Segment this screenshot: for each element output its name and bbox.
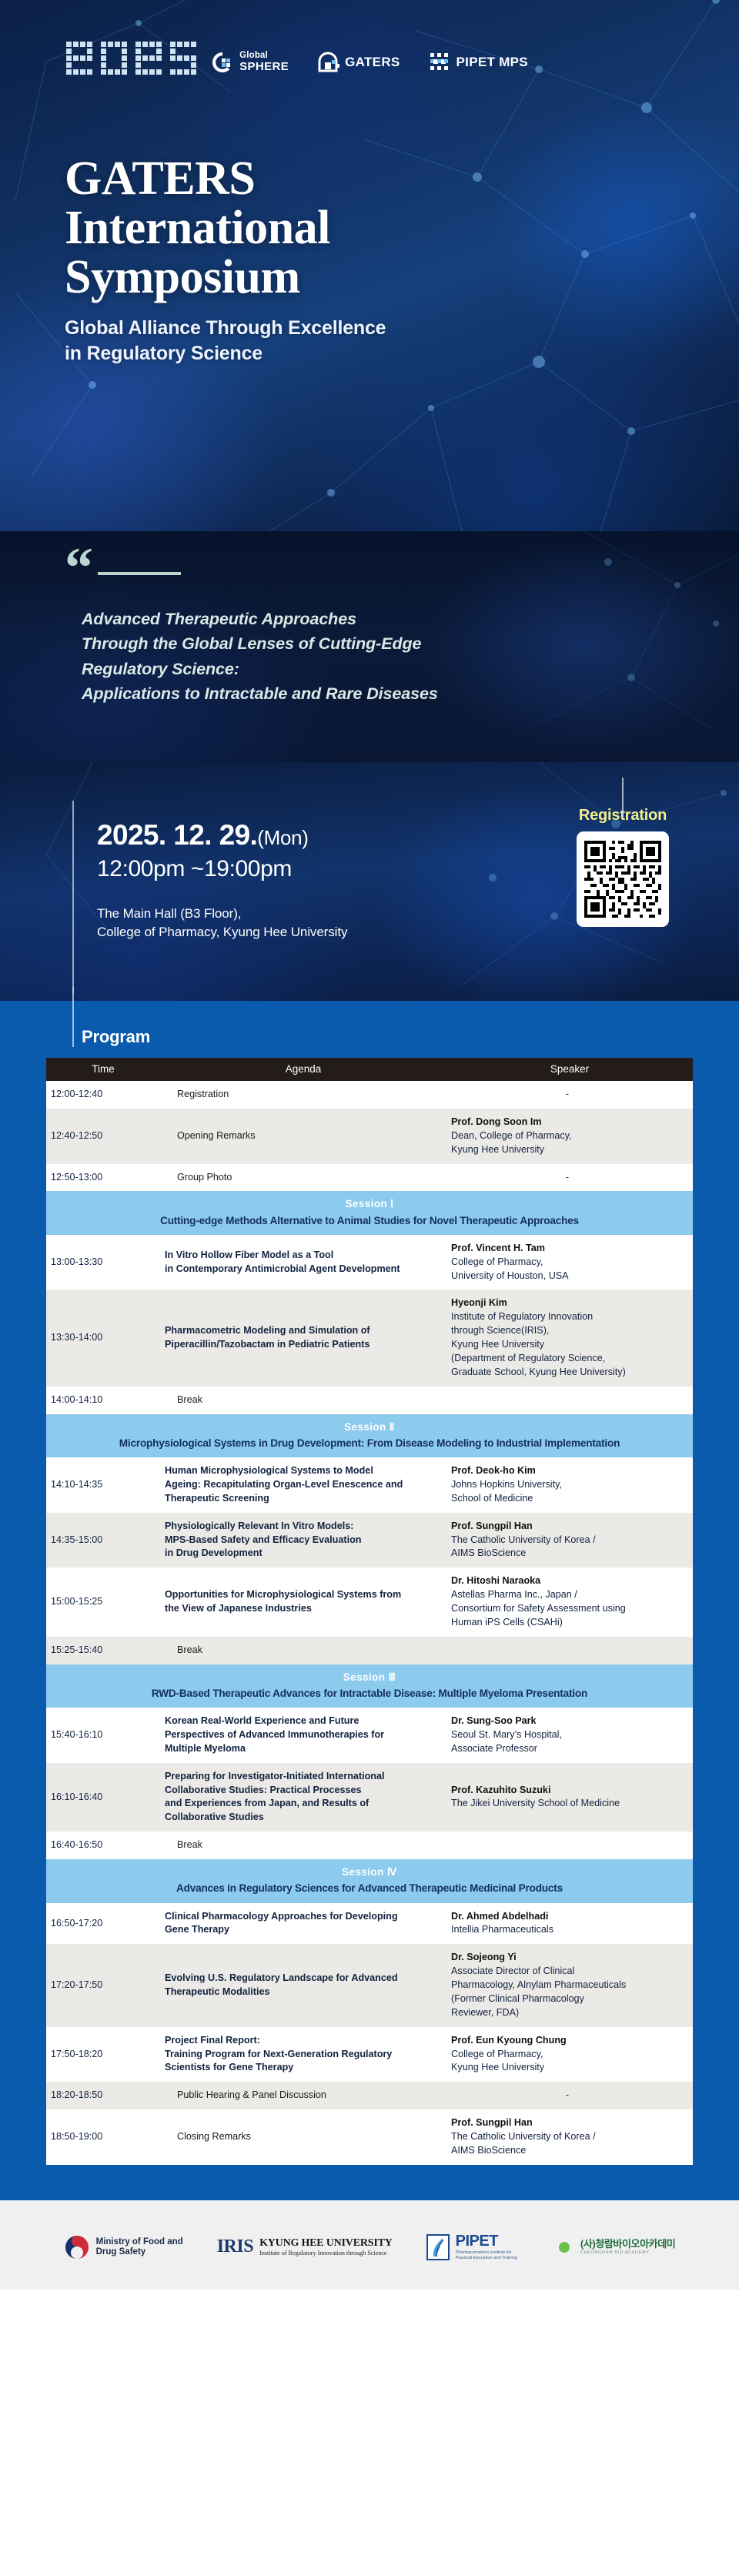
logo-pipet-mps: PIPET MPS bbox=[428, 51, 528, 74]
event-time: 12:00pm ~19:00pm bbox=[97, 856, 347, 883]
khu-line-2: Institute of Regulatory Innovation throu… bbox=[259, 2250, 393, 2257]
registration-accent-line bbox=[622, 778, 624, 818]
date-accent-line bbox=[72, 801, 74, 993]
speaker-affiliation: Seoul St. Mary’s Hospital, bbox=[451, 1728, 688, 1742]
cell-time: 14:10-14:35 bbox=[46, 1457, 160, 1513]
cell-agenda: Registration bbox=[160, 1081, 446, 1109]
page-title: GATERS International Symposium bbox=[65, 154, 330, 302]
speaker-name: Dr. Hitoshi Naraoka bbox=[451, 1574, 688, 1588]
speaker-name: Prof. Vincent H. Tam bbox=[451, 1242, 688, 1256]
table-header-row: Time Agenda Speaker bbox=[46, 1058, 693, 1081]
program-section: Program Time Agenda Speaker 12:00-12:40R… bbox=[0, 1001, 739, 2200]
table-row: 15:40-16:10Korean Real-World Experience … bbox=[46, 1708, 693, 1763]
cell-agenda: Break bbox=[160, 1387, 446, 1414]
table-row: 18:50-19:00Closing RemarksProf. Sungpil … bbox=[46, 2109, 693, 2165]
table-row: 13:30-14:00Pharmacometric Modeling and S… bbox=[46, 1290, 693, 1386]
speaker-affiliation: Johns Hopkins University, bbox=[451, 1478, 688, 1492]
speaker-affiliation: Human iPS Cells (CSAHi) bbox=[451, 1616, 688, 1630]
quote-line-4: Applications to Intractable and Rare Dis… bbox=[82, 681, 438, 706]
subtitle-line-2: in Regulatory Science bbox=[65, 341, 386, 366]
theme-quote-band: “ Advanced Therapeutic Approaches Throug… bbox=[0, 531, 739, 762]
column-header-agenda: Agenda bbox=[160, 1058, 446, 1081]
cell-time: 16:40-16:50 bbox=[46, 1832, 160, 1859]
pipet-line-1: Pharmacometrics Institute for bbox=[456, 2250, 517, 2256]
taegeuk-icon bbox=[64, 2234, 90, 2260]
cell-speaker-empty: - bbox=[446, 1081, 693, 1109]
cell-speaker: Dr. Sung-Soo ParkSeoul St. Mary’s Hospit… bbox=[446, 1708, 693, 1763]
cell-agenda: Korean Real-World Experience and FutureP… bbox=[160, 1708, 446, 1763]
cell-time: 14:00-14:10 bbox=[46, 1387, 160, 1414]
cell-speaker: Dr. Ahmed AbdelhadiIntellia Pharmaceutic… bbox=[446, 1903, 693, 1945]
footer-logo-mfds: Ministry of Food and Drug Safety bbox=[64, 2234, 183, 2260]
program-schedule-table: Time Agenda Speaker 12:00-12:40Registrat… bbox=[46, 1058, 693, 2165]
speaker-affiliation: Graduate School, Kyung Hee University) bbox=[451, 1366, 688, 1380]
title-line-2: International bbox=[65, 203, 330, 253]
cell-agenda: Pharmacometric Modeling and Simulation o… bbox=[160, 1290, 446, 1386]
footer-logo-pipet: PIPET Pharmacometrics Institute for Prac… bbox=[426, 2233, 517, 2261]
speaker-affiliation: Institute of Regulatory Innovation bbox=[451, 1310, 688, 1324]
cell-time: 12:50-13:00 bbox=[46, 1164, 160, 1192]
session-number: Session Ⅱ bbox=[54, 1420, 685, 1434]
cell-agenda: Project Final Report:Training Program fo… bbox=[160, 2027, 446, 2083]
speaker-name: Prof. Dong Soon Im bbox=[451, 1116, 688, 1129]
mfds-line-1: Ministry of Food and bbox=[96, 2237, 183, 2247]
speaker-affiliation: Pharmacology, Alnylam Pharmaceuticals bbox=[451, 1979, 688, 1992]
event-date-row: 2025. 12. 29.(Mon) bbox=[97, 819, 347, 851]
speaker-affiliation: The Catholic University of Korea / bbox=[451, 1534, 688, 1547]
cell-agenda: Preparing for Investigator-Initiated Int… bbox=[160, 1763, 446, 1832]
quote-mark-icon: “ bbox=[65, 551, 93, 587]
cell-time: 16:10-16:40 bbox=[46, 1763, 160, 1832]
speaker-name: Prof. Sungpil Han bbox=[451, 1520, 688, 1534]
speaker-affiliation: Kyung Hee University bbox=[451, 1143, 688, 1157]
table-row: 18:20-18:50Public Hearing & Panel Discus… bbox=[46, 2082, 693, 2109]
column-header-speaker: Speaker bbox=[446, 1058, 693, 1081]
program-table-body: 12:00-12:40Registration-12:40-12:50Openi… bbox=[46, 1081, 693, 2165]
cell-speaker: Prof. Eun Kyoung ChungCollege of Pharmac… bbox=[446, 2027, 693, 2083]
cell-agenda: Opportunities for Microphysiological Sys… bbox=[160, 1567, 446, 1637]
speaker-name: Prof. Eun Kyoung Chung bbox=[451, 2034, 688, 2048]
quote-mark-rule: “ bbox=[65, 551, 181, 587]
speaker-affiliation: College of Pharmacy, bbox=[451, 1256, 688, 1270]
session-header-cell: Session ⅣAdvances in Regulatory Sciences… bbox=[46, 1859, 693, 1902]
cell-agenda: Opening Remarks bbox=[160, 1109, 446, 1164]
cell-speaker: Prof. Vincent H. TamCollege of Pharmacy,… bbox=[446, 1235, 693, 1290]
speaker-affiliation: AIMS BioScience bbox=[451, 2144, 688, 2158]
speaker-affiliation: (Department of Regulatory Science, bbox=[451, 1352, 688, 1366]
cell-time: 15:25-15:40 bbox=[46, 1637, 160, 1664]
event-venue: The Main Hall (B3 Floor), College of Pha… bbox=[97, 905, 347, 942]
cell-agenda: Group Photo bbox=[160, 1164, 446, 1192]
title-line-3: Symposium bbox=[65, 253, 330, 302]
session-description: Microphysiological Systems in Drug Devel… bbox=[54, 1436, 685, 1450]
table-row: 17:20-17:50Evolving U.S. Regulatory Land… bbox=[46, 1944, 693, 2026]
pipet-icon bbox=[426, 2234, 450, 2260]
table-row: 12:00-12:40Registration- bbox=[46, 1081, 693, 1109]
cheongram-wordmark: (사)청람바이오아카데미 bbox=[580, 2239, 675, 2250]
event-date: 2025. 12. 29. bbox=[97, 819, 257, 851]
cell-time: 18:50-19:00 bbox=[46, 2109, 160, 2165]
table-row: 14:10-14:35Human Microphysiological Syst… bbox=[46, 1457, 693, 1513]
program-accent-line bbox=[72, 987, 74, 1047]
session-number: Session Ⅲ bbox=[54, 1670, 685, 1684]
venue-line-2: College of Pharmacy, Kyung Hee Universit… bbox=[97, 923, 347, 942]
cell-speaker: Prof. Dong Soon ImDean, College of Pharm… bbox=[446, 1109, 693, 1164]
hero-banner: Global SPHERE GATERS bbox=[0, 0, 739, 531]
iris-wordmark: IRIS bbox=[217, 2236, 253, 2257]
table-row: 14:00-14:10Break bbox=[46, 1387, 693, 1414]
gaters-pixel-icon bbox=[316, 51, 339, 74]
cell-time: 14:35-15:00 bbox=[46, 1513, 160, 1568]
cell-agenda: Closing Remarks bbox=[160, 2109, 446, 2165]
speaker-affiliation: University of Houston, USA bbox=[451, 1270, 688, 1283]
event-day: (Mon) bbox=[257, 826, 308, 849]
cell-time: 13:00-13:30 bbox=[46, 1235, 160, 1290]
table-row: 15:00-15:25Opportunities for Microphysio… bbox=[46, 1567, 693, 1637]
table-row: 16:50-17:20Clinical Pharmacology Approac… bbox=[46, 1903, 693, 1945]
speaker-affiliation: AIMS BioScience bbox=[451, 1547, 688, 1561]
speaker-affiliation: Reviewer, FDA) bbox=[451, 2006, 688, 2020]
speaker-name: Prof. Deok-ho Kim bbox=[451, 1464, 688, 1478]
session-description: Cutting-edge Methods Alternative to Anim… bbox=[54, 1213, 685, 1228]
table-row: 13:00-13:30In Vitro Hollow Fiber Model a… bbox=[46, 1235, 693, 1290]
footer-logo-iris-khu: IRIS KYUNG HEE UNIVERSITY Institute of R… bbox=[217, 2236, 393, 2257]
speaker-affiliation: Kyung Hee University bbox=[451, 2061, 688, 2075]
table-row: 12:50-13:00Group Photo- bbox=[46, 1164, 693, 1192]
session-header-row: Session ⅢRWD-Based Therapeutic Advances … bbox=[46, 1664, 693, 1708]
cell-agenda: Clinical Pharmacology Approaches for Dev… bbox=[160, 1903, 446, 1945]
speaker-affiliation: The Catholic University of Korea / bbox=[451, 2130, 688, 2144]
quote-line-3: Regulatory Science: bbox=[82, 657, 438, 681]
session-header-row: Session ⅣAdvances in Regulatory Sciences… bbox=[46, 1859, 693, 1902]
program-title: Program bbox=[0, 1001, 739, 1058]
cell-speaker-empty bbox=[446, 1637, 693, 1664]
cell-agenda: Break bbox=[160, 1637, 446, 1664]
quote-line-1: Advanced Therapeutic Approaches bbox=[82, 607, 438, 631]
pipet-wordmark: PIPET bbox=[456, 2233, 517, 2250]
cell-agenda: Human Microphysiological Systems to Mode… bbox=[160, 1457, 446, 1513]
logo-gaters: GATERS bbox=[316, 51, 400, 74]
speaker-affiliation: Intellia Pharmaceuticals bbox=[451, 1923, 688, 1937]
speaker-affiliation: through Science(IRIS), bbox=[451, 1324, 688, 1338]
cell-speaker-empty bbox=[446, 1832, 693, 1859]
cell-speaker: Dr. Hitoshi NaraokaAstellas Pharma Inc.,… bbox=[446, 1567, 693, 1637]
cell-speaker: Prof. Sungpil HanThe Catholic University… bbox=[446, 1513, 693, 1568]
title-line-1: GATERS bbox=[65, 154, 330, 203]
cell-speaker: Prof. Deok-ho KimJohns Hopkins Universit… bbox=[446, 1457, 693, 1513]
mfds-line-2: Drug Safety bbox=[96, 2247, 183, 2257]
cell-time: 17:20-17:50 bbox=[46, 1944, 160, 2026]
cell-speaker-empty: - bbox=[446, 1164, 693, 1192]
logo-global-sphere: Global SPHERE bbox=[211, 51, 289, 74]
table-row: 17:50-18:20Project Final Report:Training… bbox=[46, 2027, 693, 2083]
session-number: Session Ⅰ bbox=[54, 1196, 685, 1211]
cell-speaker-empty bbox=[446, 1387, 693, 1414]
footer-logo-cheongram: (사)청람바이오아카데미 CHEONGRAM BIO ACADEMY bbox=[551, 2236, 675, 2259]
cell-agenda: Physiologically Relevant In Vitro Models… bbox=[160, 1513, 446, 1568]
session-description: RWD-Based Therapeutic Advances for Intra… bbox=[54, 1686, 685, 1701]
table-row: 12:40-12:50Opening RemarksProf. Dong Soo… bbox=[46, 1109, 693, 1164]
quote-rule bbox=[98, 572, 181, 575]
pipet-line-2: Practical Education and Training bbox=[456, 2256, 517, 2261]
speaker-name: Prof. Kazuhito Suzuki bbox=[451, 1784, 688, 1798]
session-header-cell: Session ⅢRWD-Based Therapeutic Advances … bbox=[46, 1664, 693, 1708]
speaker-affiliation: Astellas Pharma Inc., Japan / bbox=[451, 1588, 688, 1602]
cheongram-line-1: CHEONGRAM BIO ACADEMY bbox=[580, 2250, 675, 2255]
speaker-name: Dr. Sojeong Yi bbox=[451, 1951, 688, 1965]
partner-logo-row: Global SPHERE GATERS bbox=[0, 51, 739, 74]
cell-time: 18:20-18:50 bbox=[46, 2082, 160, 2109]
khu-line-1: KYUNG HEE UNIVERSITY bbox=[259, 2237, 393, 2250]
quote-line-2: Through the Global Lenses of Cutting-Edg… bbox=[82, 631, 438, 656]
cell-time: 12:00-12:40 bbox=[46, 1081, 160, 1109]
cell-time: 15:00-15:25 bbox=[46, 1567, 160, 1637]
speaker-affiliation: School of Medicine bbox=[451, 1492, 688, 1506]
leaf-circle-icon bbox=[551, 2236, 574, 2259]
cell-speaker-empty: - bbox=[446, 2082, 693, 2109]
cell-time: 13:30-14:00 bbox=[46, 1290, 160, 1386]
speaker-affiliation: Associate Professor bbox=[451, 1742, 688, 1756]
table-row: 15:25-15:40Break bbox=[46, 1637, 693, 1664]
session-header-cell: Session ⅡMicrophysiological Systems in D… bbox=[46, 1414, 693, 1457]
table-row: 16:40-16:50Break bbox=[46, 1832, 693, 1859]
logo-pipet-mps-label: PIPET MPS bbox=[456, 55, 528, 70]
page-subtitle: Global Alliance Through Excellence in Re… bbox=[65, 316, 386, 366]
speaker-affiliation: (Former Clinical Pharmacology bbox=[451, 1992, 688, 2006]
quote-text: Advanced Therapeutic Approaches Through … bbox=[82, 607, 438, 706]
speaker-affiliation: Dean, College of Pharmacy, bbox=[451, 1129, 688, 1143]
venue-line-1: The Main Hall (B3 Floor), bbox=[97, 905, 347, 923]
cell-time: 12:40-12:50 bbox=[46, 1109, 160, 1164]
speaker-name: Dr. Sung-Soo Park bbox=[451, 1715, 688, 1728]
cell-agenda: Break bbox=[160, 1832, 446, 1859]
session-description: Advances in Regulatory Sciences for Adva… bbox=[54, 1881, 685, 1895]
cell-agenda: Public Hearing & Panel Discussion bbox=[160, 2082, 446, 2109]
cell-speaker: Dr. Sojeong YiAssociate Director of Clin… bbox=[446, 1944, 693, 2026]
speaker-name: Dr. Ahmed Abdelhadi bbox=[451, 1910, 688, 1924]
speaker-name: Prof. Sungpil Han bbox=[451, 2116, 688, 2130]
speaker-affiliation: Consortium for Safety Assessment using bbox=[451, 1602, 688, 1616]
sponsor-footer: Ministry of Food and Drug Safety IRIS KY… bbox=[0, 2200, 739, 2290]
event-details-band: 2025. 12. 29.(Mon) 12:00pm ~19:00pm The … bbox=[0, 762, 739, 1001]
table-row: 14:35-15:00Physiologically Relevant In V… bbox=[46, 1513, 693, 1568]
globe-pixel-icon bbox=[211, 51, 234, 74]
session-header-cell: Session ⅠCutting-edge Methods Alternativ… bbox=[46, 1191, 693, 1234]
speaker-affiliation: Associate Director of Clinical bbox=[451, 1965, 688, 1979]
cell-time: 16:50-17:20 bbox=[46, 1903, 160, 1945]
logo-gaters-label: GATERS bbox=[345, 55, 400, 70]
cell-speaker: Hyeonji KimInstitute of Regulatory Innov… bbox=[446, 1290, 693, 1386]
speaker-affiliation: Kyung Hee University bbox=[451, 1338, 688, 1352]
registration-block[interactable]: Registration bbox=[565, 807, 680, 927]
event-datetime-block: 2025. 12. 29.(Mon) 12:00pm ~19:00pm The … bbox=[97, 819, 347, 942]
session-header-row: Session ⅠCutting-edge Methods Alternativ… bbox=[46, 1191, 693, 1234]
speaker-affiliation: The Jikei University School of Medicine bbox=[451, 1797, 688, 1811]
column-header-time: Time bbox=[46, 1058, 160, 1081]
cell-agenda: Evolving U.S. Regulatory Landscape for A… bbox=[160, 1944, 446, 2026]
cell-time: 17:50-18:20 bbox=[46, 2027, 160, 2083]
speaker-affiliation: College of Pharmacy, bbox=[451, 2048, 688, 2062]
subtitle-line-1: Global Alliance Through Excellence bbox=[65, 316, 386, 341]
table-row: 16:10-16:40Preparing for Investigator-In… bbox=[46, 1763, 693, 1832]
speaker-name: Hyeonji Kim bbox=[451, 1296, 688, 1310]
cell-time: 15:40-16:10 bbox=[46, 1708, 160, 1763]
session-header-row: Session ⅡMicrophysiological Systems in D… bbox=[46, 1414, 693, 1457]
cell-speaker: Prof. Kazuhito SuzukiThe Jikei Universit… bbox=[446, 1763, 693, 1832]
logo-global-sphere-line2: SPHERE bbox=[239, 61, 289, 72]
cell-agenda: In Vitro Hollow Fiber Model as a Toolin … bbox=[160, 1235, 446, 1290]
cell-speaker: Prof. Sungpil HanThe Catholic University… bbox=[446, 2109, 693, 2165]
session-number: Session Ⅳ bbox=[54, 1865, 685, 1879]
registration-qr-code[interactable] bbox=[577, 831, 669, 927]
pipet-pixel-icon bbox=[428, 51, 451, 74]
